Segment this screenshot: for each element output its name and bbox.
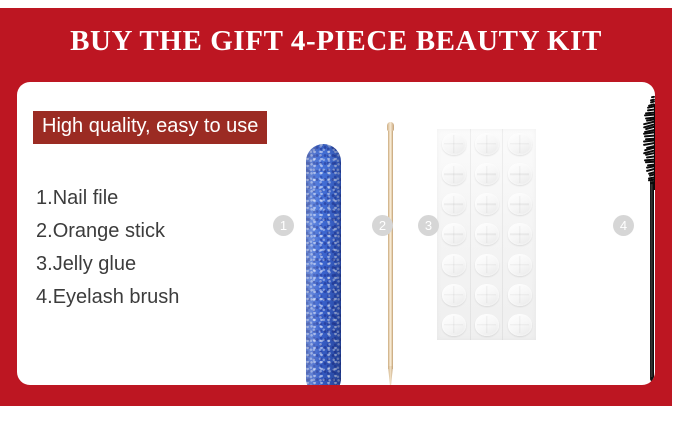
jelly-glue-sheet-icon [437,129,536,340]
list-item-label: Nail file [53,187,119,209]
jelly-glue-tab-cell [437,159,470,189]
jelly-glue-tab [475,223,499,245]
mascara-wand-handle [650,180,654,381]
jelly-glue-tab-cell [470,250,503,280]
list-item-number: 1. [36,187,53,209]
orange-stick-tip [388,366,393,385]
jelly-glue-tab [475,284,499,306]
jelly-glue-tab-cell [503,129,536,159]
jelly-glue-tab-cell [470,159,503,189]
orange-stick-icon [387,122,394,385]
mascara-wand-icon [637,88,655,383]
jelly-glue-tab-cell [437,129,470,159]
jelly-glue-tab [442,193,466,215]
content-card: High quality, easy to use 1.Nail file 2.… [17,82,655,385]
mascara-wand-bristle-head [641,94,655,186]
jelly-glue-tab [442,133,466,155]
headline-banner: High quality, easy to use [33,111,267,144]
jelly-glue-tab [508,193,532,215]
jelly-glue-tab-cell [470,129,503,159]
list-item-label: Jelly glue [53,253,136,275]
mascara-bristle [650,182,655,184]
badge-3: 3 [418,215,439,236]
list-item-label: Eyelash brush [53,286,180,308]
jelly-glue-tab-cell [437,250,470,280]
product-list: 1.Nail file 2.Orange stick 3.Jelly glue … [36,182,179,314]
jelly-glue-tab [475,254,499,276]
jelly-glue-tab-cell [470,310,503,340]
jelly-glue-tab-cell [503,280,536,310]
jelly-glue-tab [508,284,532,306]
jelly-glue-column-divider [470,129,471,340]
orange-stick-body [388,122,393,369]
list-item: 2.Orange stick [36,215,179,248]
jelly-glue-tab [442,254,466,276]
jelly-glue-tab [442,163,466,185]
bottom-margin [0,406,679,427]
jelly-glue-tab [475,314,499,336]
jelly-glue-tab-cell [470,280,503,310]
jelly-glue-tab [508,314,532,336]
badge-1: 1 [273,215,294,236]
jelly-glue-tab-cell [470,219,503,249]
jelly-glue-tab [508,254,532,276]
jelly-glue-tab-cell [437,310,470,340]
jelly-glue-tab-cell [503,250,536,280]
jelly-glue-tab-cell [503,159,536,189]
list-item: 3.Jelly glue [36,248,179,281]
jelly-glue-tab [508,163,532,185]
list-item-number: 3. [36,253,53,275]
list-item: 1.Nail file [36,182,179,215]
jelly-glue-tab-cell [437,219,470,249]
badge-2: 2 [372,215,393,236]
jelly-glue-tab-cell [503,189,536,219]
jelly-glue-tab [475,133,499,155]
jelly-glue-tab [442,314,466,336]
jelly-glue-tab-cell [437,280,470,310]
jelly-glue-tab [508,133,532,155]
top-margin [0,0,679,8]
list-item-label: Orange stick [53,220,165,242]
jelly-glue-tab-cell [503,310,536,340]
nail-file-icon [306,144,341,385]
jelly-glue-tab-cell [503,219,536,249]
jelly-glue-tab [475,163,499,185]
jelly-glue-tab [442,223,466,245]
list-item: 4.Eyelash brush [36,281,179,314]
jelly-glue-tab [475,193,499,215]
page-title: BUY THE GIFT 4-PIECE BEAUTY KIT [0,24,672,58]
badge-4: 4 [613,215,634,236]
list-item-number: 2. [36,220,53,242]
right-margin [672,0,679,427]
jelly-glue-column-divider [502,129,503,340]
jelly-glue-tab-cell [470,189,503,219]
product-poster: BUY THE GIFT 4-PIECE BEAUTY KIT High qua… [0,0,679,427]
jelly-glue-tab-cell [437,189,470,219]
jelly-glue-tab [508,223,532,245]
orange-stick-top [387,122,394,131]
jelly-glue-tab [442,284,466,306]
list-item-number: 4. [36,286,53,308]
